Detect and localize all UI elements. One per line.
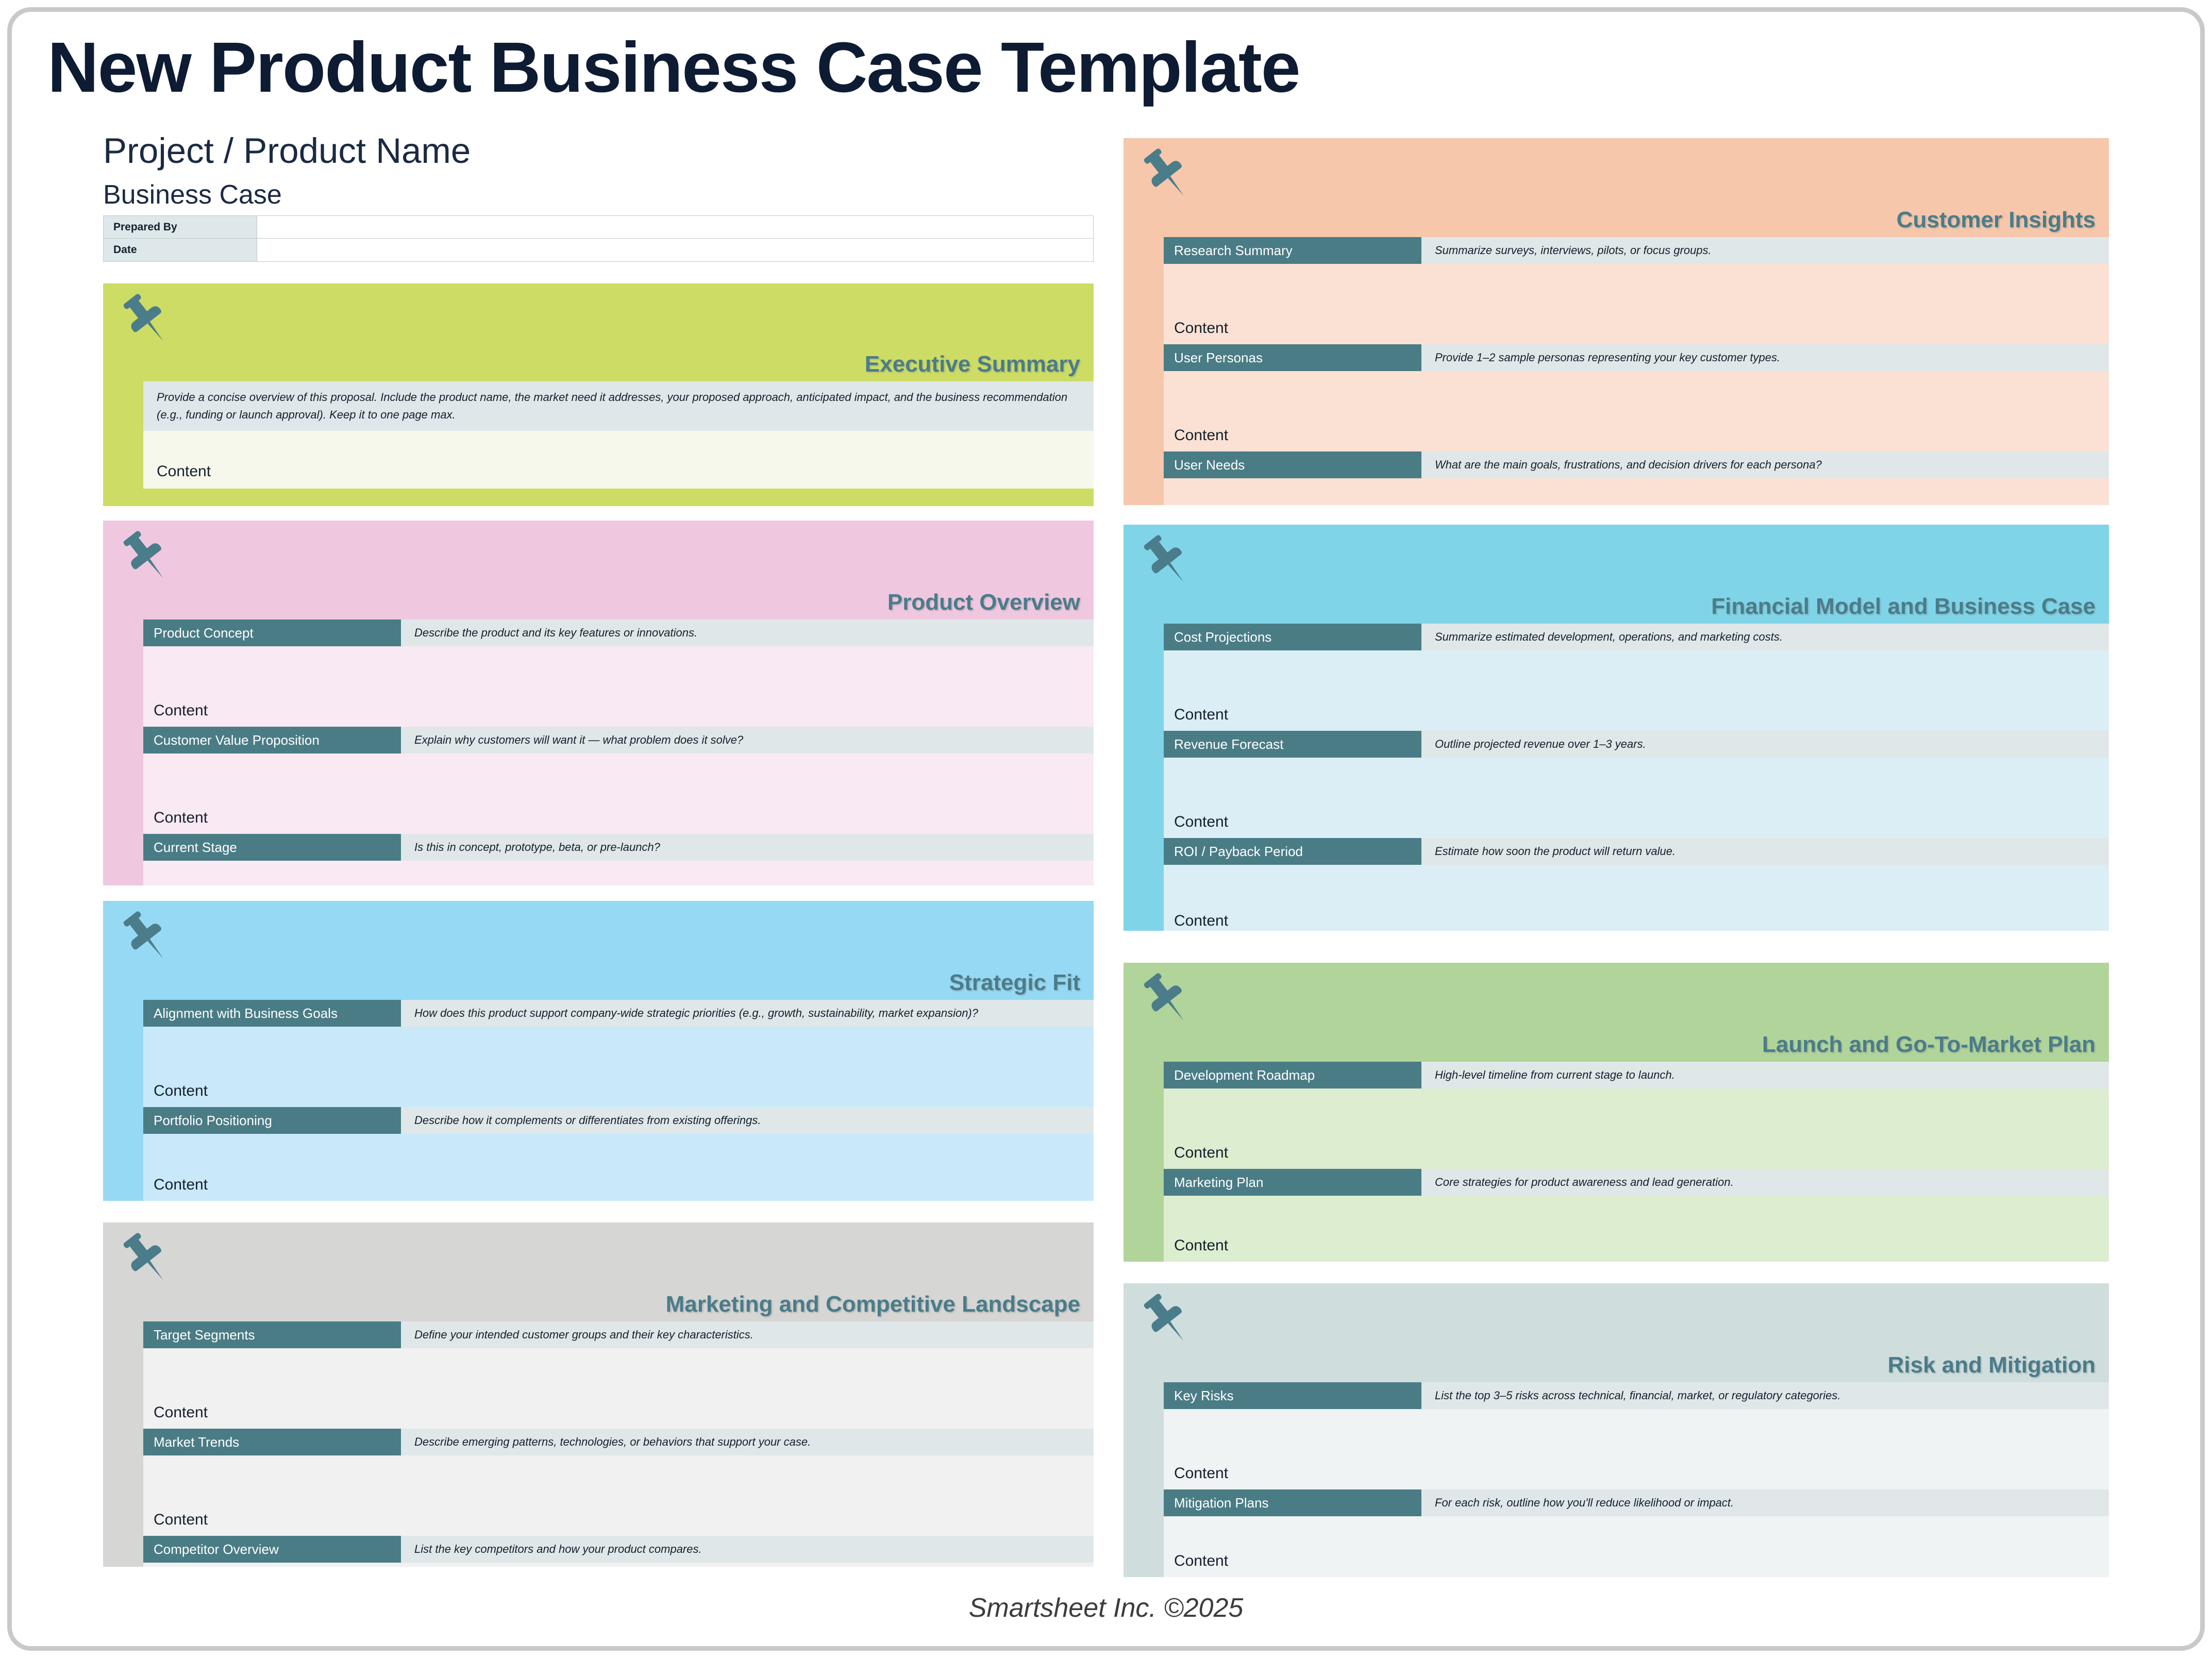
section-title: Product Overview [887, 590, 1080, 615]
table-row: Alignment with Business Goals How does t… [143, 1000, 1094, 1027]
row-hint: What are the main goals, frustrations, a… [1421, 451, 2109, 478]
date-label: Date [104, 239, 257, 261]
row-hint: Core strategies for product awareness an… [1421, 1169, 2109, 1196]
prepared-by-label: Prepared By [104, 216, 257, 238]
row-hint: Summarize surveys, interviews, pilots, o… [1421, 237, 2109, 264]
table-row: Mitigation Plans For each risk, outline … [1164, 1489, 2109, 1516]
content-placeholder[interactable]: Content [143, 646, 1094, 727]
pushpin-icon [1136, 143, 1198, 205]
table-row: Prepared By [103, 215, 1094, 239]
table-row: Competitor Overview List the key competi… [143, 1536, 1094, 1563]
table-row: ROI / Payback Period Estimate how soon t… [1164, 838, 2109, 865]
table-row: Date [103, 239, 1094, 262]
row-hint: List the top 3–5 risks across technical,… [1421, 1382, 2109, 1409]
section-title: Strategic Fit [949, 970, 1080, 996]
row-label: ROI / Payback Period [1164, 838, 1421, 865]
prepared-by-table: Prepared By Date [103, 215, 1094, 262]
content-placeholder[interactable]: Content [143, 1027, 1094, 1107]
pushpin-icon [115, 906, 177, 968]
row-hint: Summarize estimated development, operati… [1421, 624, 2109, 650]
section-rows: Target Segments Define your intended cus… [143, 1321, 1094, 1567]
section-rows: Cost Projections Summarize estimated dev… [1164, 624, 2109, 931]
copyright-footer: Smartsheet Inc. ©2025 [0, 1593, 2212, 1623]
table-row: Portfolio Positioning Describe how it co… [143, 1107, 1094, 1134]
row-label: Cost Projections [1164, 624, 1421, 650]
content-placeholder[interactable] [143, 861, 1094, 885]
content-placeholder[interactable]: Content [1164, 1409, 2109, 1489]
row-label: Portfolio Positioning [143, 1107, 401, 1134]
section-header: Strategic Fit [103, 901, 1094, 1000]
content-placeholder[interactable] [1164, 478, 2109, 505]
row-label: Revenue Forecast [1164, 731, 1421, 758]
content-placeholder[interactable]: Content [1164, 1516, 2109, 1577]
table-row: Target Segments Define your intended cus… [143, 1321, 1094, 1348]
table-row: Key Risks List the top 3–5 risks across … [1164, 1382, 2109, 1409]
content-placeholder[interactable]: Content [1164, 758, 2109, 838]
row-label: Key Risks [1164, 1382, 1421, 1409]
section-customer-insights: Customer Insights Research Summary Summa… [1124, 138, 2109, 505]
row-hint: Describe how it complements or different… [401, 1107, 1094, 1134]
row-hint: Is this in concept, prototype, beta, or … [401, 834, 1094, 861]
section-header: Customer Insights [1124, 138, 2109, 237]
row-label: Research Summary [1164, 237, 1421, 264]
row-label: User Needs [1164, 451, 1421, 478]
row-label: Market Trends [143, 1429, 401, 1455]
section-title: Financial Model and Business Case [1711, 594, 2096, 619]
row-hint: Estimate how soon the product will retur… [1421, 838, 2109, 865]
content-placeholder[interactable]: Content [1164, 650, 2109, 731]
row-hint: Define your intended customer groups and… [401, 1321, 1094, 1348]
row-label: Product Concept [143, 619, 401, 646]
section-financial-model: Financial Model and Business Case Cost P… [1124, 525, 2109, 931]
table-row: Marketing Plan Core strategies for produ… [1164, 1169, 2109, 1196]
section-strategic-fit: Strategic Fit Alignment with Business Go… [103, 901, 1094, 1201]
section-launch-plan: Launch and Go-To-Market Plan Development… [1124, 963, 2109, 1262]
table-row: Development Roadmap High-level timeline … [1164, 1062, 2109, 1088]
row-hint: List the key competitors and how your pr… [401, 1536, 1094, 1563]
section-header: Marketing and Competitive Landscape [103, 1222, 1094, 1321]
table-row: Customer Value Proposition Explain why c… [143, 727, 1094, 753]
table-row: Product Concept Describe the product and… [143, 619, 1094, 646]
document-subtitle: Business Case [103, 179, 282, 210]
section-rows: Development Roadmap High-level timeline … [1164, 1062, 2109, 1262]
pushpin-icon [1136, 1288, 1198, 1350]
section-title: Risk and Mitigation [1888, 1352, 2096, 1378]
section-rows: Alignment with Business Goals How does t… [143, 1000, 1094, 1201]
section-header: Executive Summary [103, 283, 1094, 381]
row-hint: Explain why customers will want it — wha… [401, 727, 1094, 753]
content-placeholder[interactable]: Content [1164, 865, 2109, 931]
prepared-by-input[interactable] [257, 216, 1093, 238]
pushpin-icon [1136, 530, 1198, 592]
template-page: New Product Business Case Template Proje… [0, 0, 2212, 1658]
table-row: Market Trends Describe emerging patterns… [143, 1429, 1094, 1455]
row-hint: Outline projected revenue over 1–3 years… [1421, 731, 2109, 758]
content-placeholder[interactable]: Content [1164, 371, 2109, 451]
project-product-name: Project / Product Name [103, 130, 471, 171]
content-placeholder[interactable]: Content [143, 1134, 1094, 1201]
section-title: Marketing and Competitive Landscape [666, 1292, 1080, 1317]
section-rows: Product Concept Describe the product and… [143, 619, 1094, 885]
row-label: Marketing Plan [1164, 1169, 1421, 1196]
table-row: User Personas Provide 1–2 sample persona… [1164, 344, 2109, 371]
pushpin-icon [115, 1228, 177, 1289]
section-header: Financial Model and Business Case [1124, 525, 2109, 624]
section-rows: Key Risks List the top 3–5 risks across … [1164, 1382, 2109, 1577]
section-executive-summary: Executive Summary Provide a concise over… [103, 283, 1094, 506]
section-title: Launch and Go-To-Market Plan [1762, 1032, 2096, 1058]
table-row: User Needs What are the main goals, frus… [1164, 451, 2109, 478]
content-placeholder[interactable]: Content [1164, 1088, 2109, 1169]
pushpin-icon [115, 526, 177, 588]
section-title: Customer Insights [1897, 207, 2096, 233]
row-label: User Personas [1164, 344, 1421, 371]
section-risk-mitigation: Risk and Mitigation Key Risks List the t… [1124, 1283, 2109, 1577]
row-label: Development Roadmap [1164, 1062, 1421, 1088]
row-label: Current Stage [143, 834, 401, 861]
page-title: New Product Business Case Template [47, 27, 1300, 109]
content-placeholder[interactable]: Content [143, 431, 1094, 489]
content-placeholder[interactable]: Content [1164, 264, 2109, 344]
row-label: Competitor Overview [143, 1536, 401, 1563]
section-hint-text: Provide a concise overview of this propo… [143, 381, 1094, 431]
section-rows: Research Summary Summarize surveys, inte… [1164, 237, 2109, 505]
table-row: Revenue Forecast Outline projected reven… [1164, 731, 2109, 758]
row-hint: Describe emerging patterns, technologies… [401, 1429, 1094, 1455]
row-hint: High-level timeline from current stage t… [1421, 1062, 2109, 1088]
table-row: Current Stage Is this in concept, protot… [143, 834, 1094, 861]
row-hint: Provide 1–2 sample personas representing… [1421, 344, 2109, 371]
section-header: Risk and Mitigation [1124, 1283, 2109, 1382]
content-placeholder[interactable]: Content [143, 1348, 1094, 1429]
section-header: Launch and Go-To-Market Plan [1124, 963, 2109, 1062]
row-hint: For each risk, outline how you'll reduce… [1421, 1489, 2109, 1516]
content-placeholder[interactable]: Content [143, 1455, 1094, 1536]
row-hint: How does this product support company-wi… [401, 1000, 1094, 1027]
row-label: Customer Value Proposition [143, 727, 401, 753]
row-hint: Describe the product and its key feature… [401, 619, 1094, 646]
date-input[interactable] [257, 239, 1093, 261]
pushpin-icon [1136, 968, 1198, 1030]
section-title: Executive Summary [865, 351, 1080, 377]
row-label: Target Segments [143, 1321, 401, 1348]
section-product-overview: Product Overview Product Concept Describ… [103, 521, 1094, 885]
section-marketing-landscape: Marketing and Competitive Landscape Targ… [103, 1222, 1094, 1567]
table-row: Cost Projections Summarize estimated dev… [1164, 624, 2109, 650]
row-label: Alignment with Business Goals [143, 1000, 401, 1027]
content-placeholder[interactable]: Content [143, 753, 1094, 834]
content-placeholder[interactable] [143, 1563, 1094, 1567]
content-placeholder[interactable]: Content [1164, 1196, 2109, 1262]
pushpin-icon [115, 289, 177, 350]
section-header: Product Overview [103, 521, 1094, 619]
table-row: Research Summary Summarize surveys, inte… [1164, 237, 2109, 264]
row-label: Mitigation Plans [1164, 1489, 1421, 1516]
